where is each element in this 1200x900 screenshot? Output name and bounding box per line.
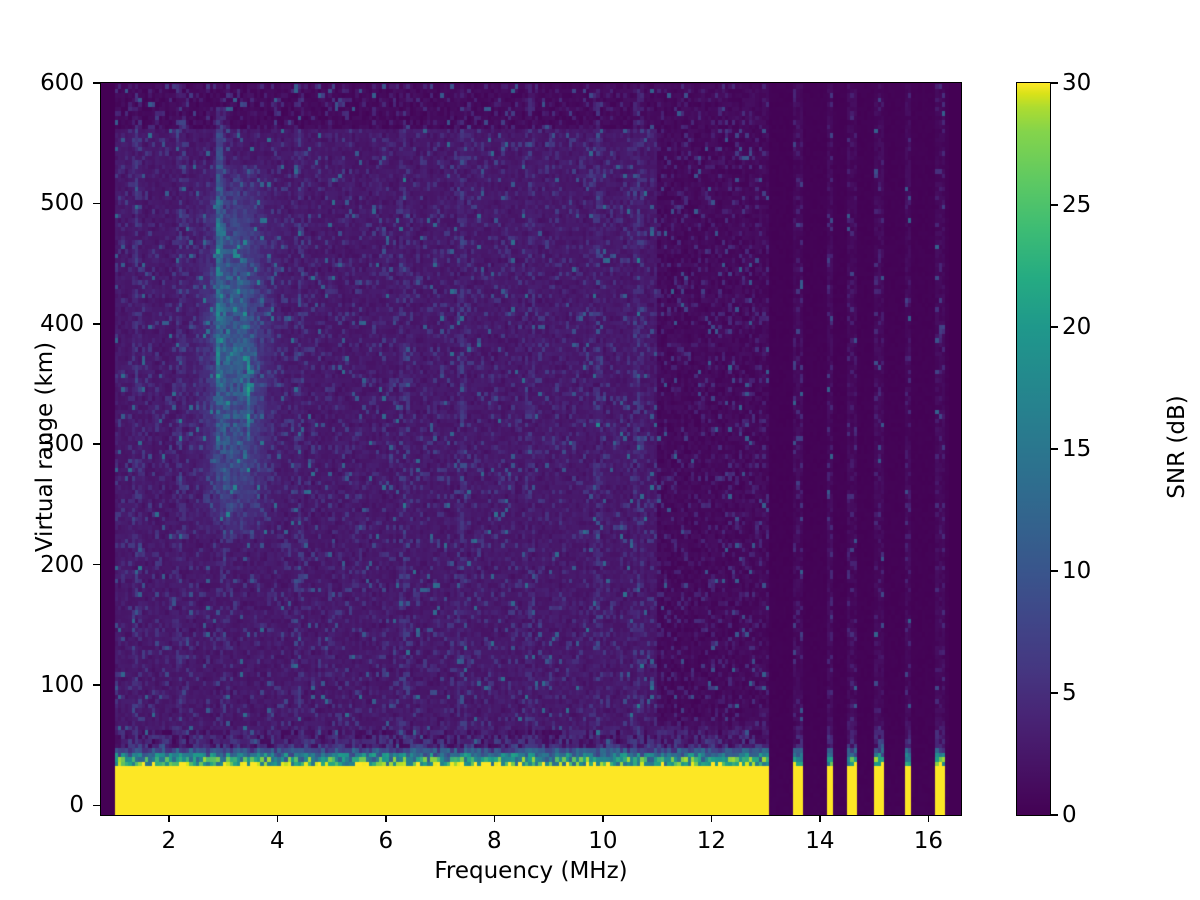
colorbar-tick-mark xyxy=(1051,204,1058,206)
colorbar-tick-label: 15 xyxy=(1062,436,1091,462)
y-tick-mark xyxy=(93,323,100,325)
x-tick-label: 14 xyxy=(780,828,860,854)
ionogram-heatmap xyxy=(101,83,961,815)
x-tick-label: 4 xyxy=(237,828,317,854)
x-tick-mark xyxy=(168,815,170,822)
colorbar-tick-mark xyxy=(1051,82,1058,84)
colorbar-tick-mark xyxy=(1051,570,1058,572)
y-tick-mark xyxy=(93,564,100,566)
x-axis-label: Frequency (MHz) xyxy=(100,858,962,884)
x-tick-mark xyxy=(494,815,496,822)
colorbar-tick-mark xyxy=(1051,448,1058,450)
x-tick-label: 10 xyxy=(563,828,643,854)
y-tick-mark xyxy=(93,82,100,84)
colorbar-tick-label: 30 xyxy=(1062,70,1091,96)
colorbar-tick-mark xyxy=(1051,326,1058,328)
colorbar-tick-label: 25 xyxy=(1062,192,1091,218)
x-tick-mark xyxy=(602,815,604,822)
ionogram-figure: IRF Kiruna Ionosonde KI167 2025-10-26 19… xyxy=(0,0,1200,900)
colorbar-tick-label: 10 xyxy=(1062,558,1091,584)
x-tick-label: 8 xyxy=(454,828,534,854)
y-tick-mark xyxy=(93,684,100,686)
x-tick-mark xyxy=(277,815,279,822)
colorbar-gradient xyxy=(1016,82,1051,816)
colorbar-tick-label: 0 xyxy=(1062,802,1077,828)
colorbar-tick-mark xyxy=(1051,692,1058,694)
colorbar-tick-label: 5 xyxy=(1062,680,1077,706)
y-tick-mark xyxy=(93,805,100,807)
colorbar-label: SNR (dB) xyxy=(1164,80,1190,814)
x-tick-label: 2 xyxy=(129,828,209,854)
x-tick-mark xyxy=(819,815,821,822)
y-tick-mark xyxy=(93,443,100,445)
colorbar-tick-label: 20 xyxy=(1062,314,1091,340)
x-tick-mark xyxy=(711,815,713,822)
y-tick-mark xyxy=(93,203,100,205)
colorbar-tick-mark xyxy=(1051,814,1058,816)
x-tick-mark xyxy=(385,815,387,822)
ionogram-plot-area xyxy=(100,82,962,816)
y-axis-label: Virtual range (km) xyxy=(32,80,58,814)
x-tick-label: 16 xyxy=(888,828,968,854)
x-tick-label: 12 xyxy=(671,828,751,854)
x-tick-mark xyxy=(928,815,930,822)
x-tick-label: 6 xyxy=(346,828,426,854)
